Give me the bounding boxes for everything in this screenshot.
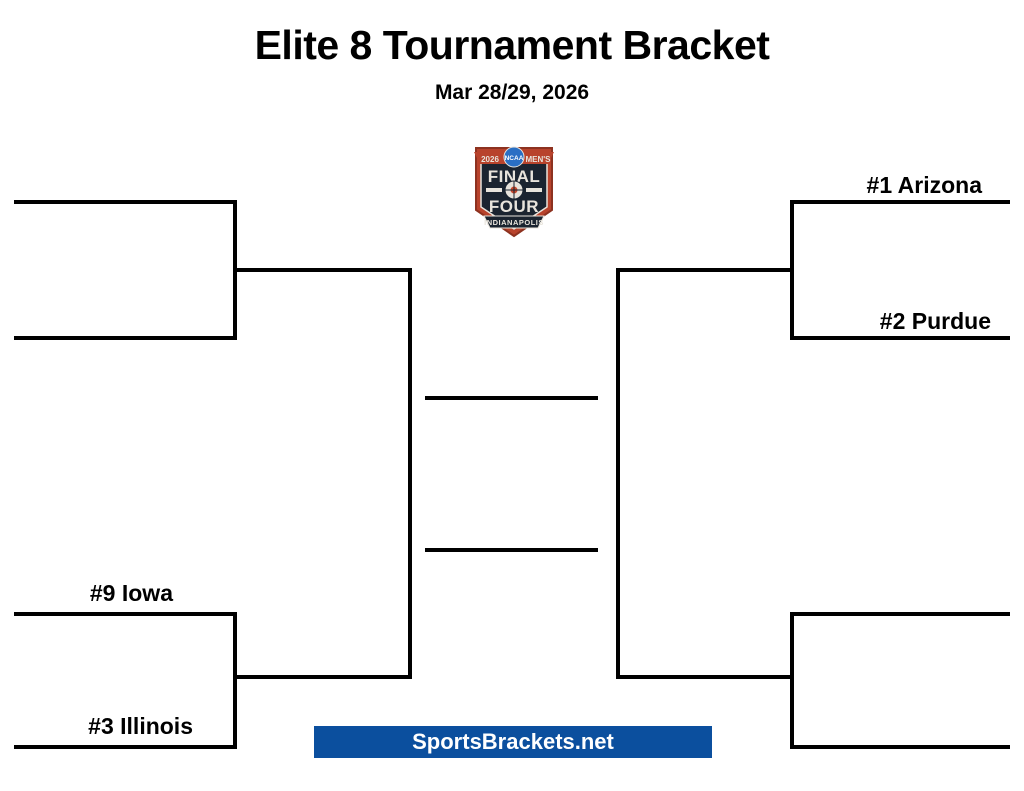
right-semi-bottom-line — [616, 675, 794, 679]
left-bottom-connector — [233, 612, 237, 749]
final-lower-line — [425, 548, 598, 552]
right-semi-top-line — [616, 268, 794, 272]
page-title: Elite 8 Tournament Bracket — [0, 0, 1024, 69]
logo-line2: FOUR — [489, 197, 539, 216]
slot-right-top-lower[interactable]: #2 Purdue — [795, 308, 991, 334]
page-subtitle: Mar 28/29, 2026 — [0, 69, 1024, 105]
logo-city: INDIANAPOLIS — [484, 218, 544, 227]
left-semi-top-line — [233, 268, 412, 272]
right-top-lower-line — [790, 336, 1010, 340]
right-top-connector — [790, 200, 794, 340]
page-header: Elite 8 Tournament Bracket Mar 28/29, 20… — [0, 0, 1024, 105]
left-semi-bottom-line — [233, 675, 412, 679]
right-bottom-lower-line — [790, 745, 1010, 749]
left-top-upper-line — [14, 200, 235, 204]
sportsbrackets-banner[interactable]: SportsBrackets.net — [314, 726, 712, 758]
left-semi-connector — [408, 268, 412, 679]
slot-left-bottom-lower[interactable]: #3 Illinois — [18, 713, 193, 739]
left-bottom-upper-line — [14, 612, 235, 616]
sportsbrackets-banner-label: SportsBrackets.net — [412, 729, 614, 755]
left-bottom-lower-line — [14, 745, 235, 749]
final-upper-line — [425, 396, 598, 400]
logo-division: MEN'S — [525, 155, 551, 164]
logo-year: 2026 — [481, 155, 499, 164]
bracket-page: Elite 8 Tournament Bracket Mar 28/29, 20… — [0, 0, 1024, 791]
right-bottom-upper-line — [790, 612, 1010, 616]
right-top-upper-line — [790, 200, 1010, 204]
right-bottom-connector — [790, 612, 794, 749]
slot-left-bottom-upper[interactable]: #9 Iowa — [18, 580, 173, 606]
left-top-lower-line — [14, 336, 235, 340]
right-semi-connector — [616, 268, 620, 679]
slot-right-top-upper[interactable]: #1 Arizona — [795, 172, 982, 198]
ncaa-final-four-logo: 2026 NCAA MEN'S FINAL FOUR INDIANAPOLIS — [468, 130, 560, 242]
logo-org: NCAA — [505, 155, 524, 162]
